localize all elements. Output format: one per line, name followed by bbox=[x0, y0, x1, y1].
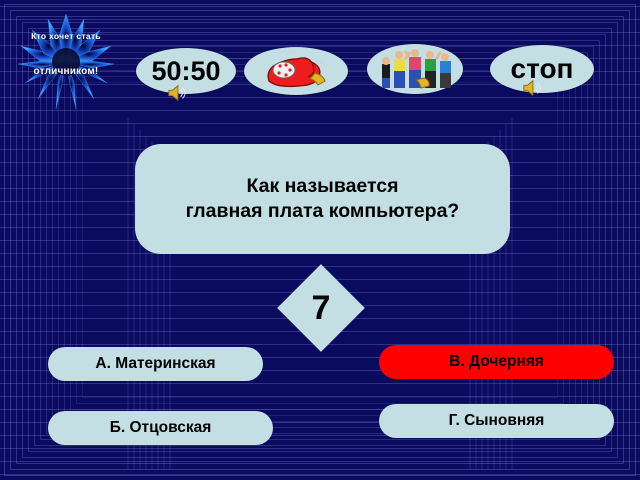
answer-option-b[interactable]: Б. Отцовская bbox=[48, 411, 273, 445]
answer-option-g-label: Г. Сыновняя bbox=[449, 412, 545, 430]
answer-option-g[interactable]: Г. Сыновняя bbox=[379, 404, 614, 438]
question-number: 7 bbox=[290, 277, 352, 339]
answer-option-v-label: В. Дочерняя bbox=[449, 353, 544, 371]
question-panel: Как называется главная плата компьютера? bbox=[135, 144, 510, 254]
starburst-icon bbox=[18, 14, 114, 110]
answer-option-b-label: Б. Отцовская bbox=[110, 419, 212, 437]
answer-option-a[interactable]: А. Материнская bbox=[48, 347, 263, 381]
audience-icon bbox=[374, 46, 456, 92]
lifeline-ask-the-audience[interactable] bbox=[367, 44, 463, 94]
question-text: Как называется главная плата компьютера? bbox=[172, 174, 474, 224]
question-number-badge: 7 bbox=[290, 277, 352, 339]
quiz-slide: Кто хочет стать отличником! 50:50 bbox=[0, 0, 640, 480]
lifeline-call-a-friend[interactable] bbox=[244, 47, 348, 95]
lifeline-fifty-fifty-label: 50:50 bbox=[151, 56, 220, 87]
telephone-icon bbox=[253, 49, 339, 93]
speaker-icon[interactable] bbox=[166, 83, 188, 103]
answer-option-v[interactable]: В. Дочерняя bbox=[379, 345, 614, 379]
answer-option-a-label: А. Материнская bbox=[95, 355, 215, 373]
speaker-icon[interactable] bbox=[521, 78, 543, 98]
show-logo: Кто хочет стать отличником! bbox=[18, 14, 114, 110]
